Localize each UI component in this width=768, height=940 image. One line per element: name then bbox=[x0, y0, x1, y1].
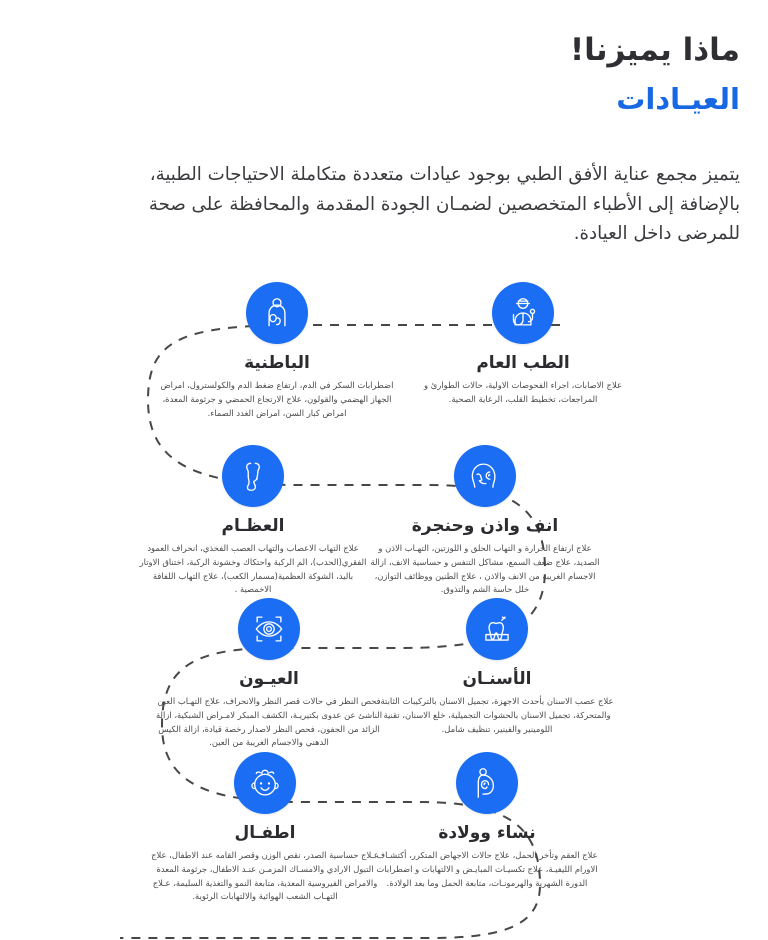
clinic-title: الباطنية bbox=[152, 353, 402, 373]
clinic-card-pedia[interactable]: اطفـال عـلاج حساسية الصدر، نقص الوزن وقص… bbox=[140, 752, 390, 904]
page-subheadline: العيـادات bbox=[68, 80, 740, 119]
clinic-title: العظـام bbox=[128, 516, 378, 536]
doctor-stethoscope-icon bbox=[492, 282, 554, 344]
clinic-title: العيـون bbox=[144, 669, 394, 689]
knee-bone-joint-icon bbox=[222, 445, 284, 507]
internal-organs-patient-icon bbox=[246, 282, 308, 344]
page-headline: ماذا يميزنا! bbox=[68, 30, 740, 70]
clinic-description: علاج الاصابات، اجراء الفحوصات الاولية، ح… bbox=[398, 379, 648, 406]
clinic-description: عـلاج حساسية الصدر، نقص الوزن وقصر القام… bbox=[140, 849, 390, 903]
clinic-description: فحص النظر في حالات قصر النظر والانحراف، … bbox=[144, 695, 394, 749]
clinic-title: اطفـال bbox=[140, 823, 390, 843]
clinic-card-internal[interactable]: الباطنية اضطرابات السكر في الدم، ارتفاع … bbox=[152, 282, 402, 420]
tooth-dental-icon bbox=[466, 598, 528, 660]
ear-nose-throat-icon bbox=[454, 445, 516, 507]
clinic-card-ent[interactable]: انف واذن وحنجرة علاج ارتفاع الحرارة و ال… bbox=[360, 445, 610, 597]
clinic-card-general[interactable]: الطب العام علاج الاصابات، اجراء الفحوصات… bbox=[398, 282, 648, 407]
clinic-title: الطب العام bbox=[398, 353, 648, 373]
clinic-card-eye[interactable]: العيـون فحص النظر في حالات قصر النظر وال… bbox=[144, 598, 394, 750]
page-header: ماذا يميزنا! العيـادات bbox=[68, 0, 768, 119]
clinic-card-ortho[interactable]: العظـام علاج التهاب الاعصاب والتهاب العص… bbox=[128, 445, 378, 597]
clinic-description: علاج التهاب الاعصاب والتهاب العصب الفخذي… bbox=[128, 542, 378, 596]
clinic-description: علاج عصب الاسنان بأحدث الاجهزة، تجميل ال… bbox=[372, 695, 622, 736]
eye-vision-icon bbox=[238, 598, 300, 660]
intro-paragraph: يتميز مجمع عناية الأفق الطبي بوجود عيادا… bbox=[148, 160, 740, 248]
clinic-description: اضطرابات السكر في الدم، ارتفاع ضغط الدم … bbox=[152, 379, 402, 420]
clinic-description: علاج العقم وتأخر الحمل، علاج حالات الاجه… bbox=[362, 849, 612, 890]
clinic-title: الأسنـان bbox=[372, 669, 622, 689]
clinic-card-dental[interactable]: الأسنـان علاج عصب الاسنان بأحدث الاجهزة،… bbox=[372, 598, 622, 736]
clinic-title: انف واذن وحنجرة bbox=[360, 516, 610, 536]
clinic-title: نساء وولادة bbox=[362, 823, 612, 843]
clinics-flow-diagram: الطب العام علاج الاصابات، اجراء الفحوصات… bbox=[0, 270, 768, 940]
pregnancy-maternity-icon bbox=[456, 752, 518, 814]
baby-face-icon bbox=[234, 752, 296, 814]
clinic-description: علاج ارتفاع الحرارة و التهاب الحلق و الل… bbox=[360, 542, 610, 596]
clinic-card-obgyn[interactable]: نساء وولادة علاج العقم وتأخر الحمل، علاج… bbox=[362, 752, 612, 890]
